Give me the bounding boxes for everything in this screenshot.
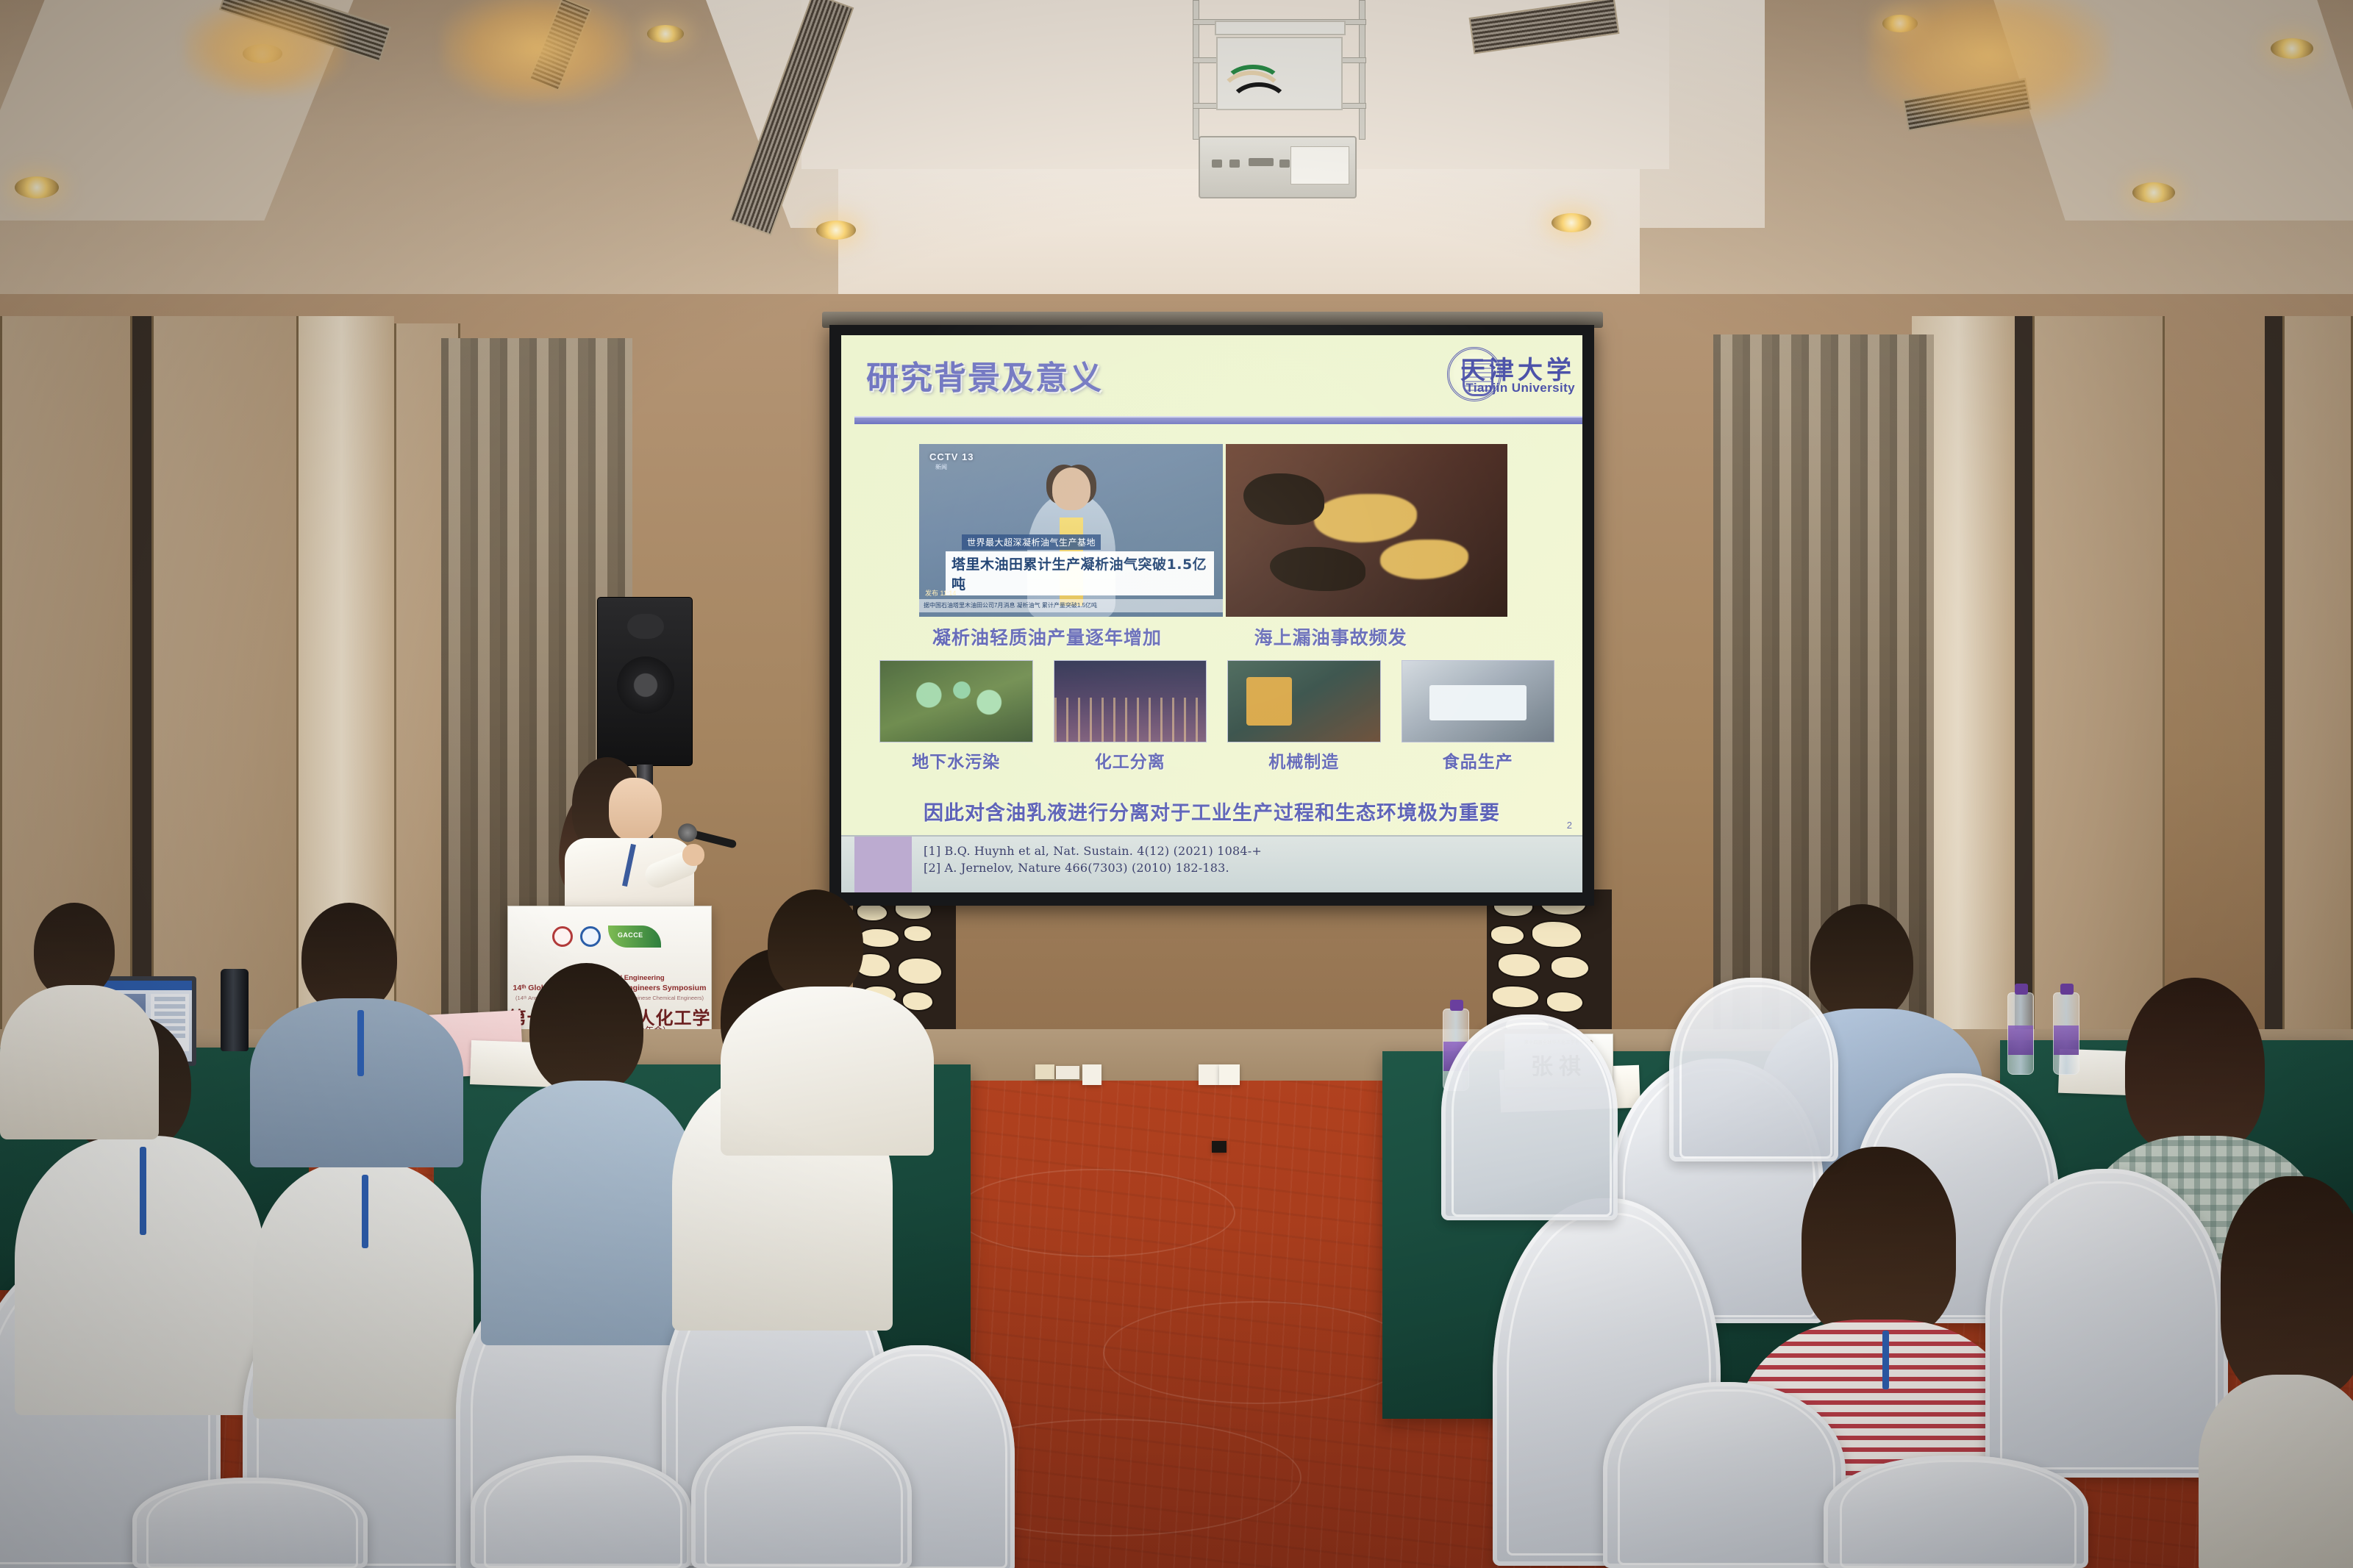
slide-title: 研究背景及意义 bbox=[866, 351, 1103, 398]
carpet-pattern bbox=[1103, 1301, 1412, 1404]
oil-spill-image bbox=[1226, 444, 1507, 617]
audience-chair bbox=[691, 1426, 912, 1568]
audience-lanyard bbox=[362, 1175, 368, 1248]
audience-chair bbox=[132, 1478, 368, 1568]
wall-panel bbox=[2032, 316, 2165, 1051]
projector-mount-plate bbox=[1215, 21, 1346, 35]
audience-shirt bbox=[481, 1081, 701, 1345]
presenter-hand bbox=[682, 844, 704, 866]
projection-screen: 研究背景及意义 天津大学 Tianjin University CCTV 13 … bbox=[829, 325, 1594, 906]
slide-references: [1] B.Q. Huynh et al, Nat. Sustain. 4(12… bbox=[841, 835, 1582, 892]
audience-member bbox=[4, 903, 151, 1123]
reference-color-swatch bbox=[854, 837, 912, 892]
application-label: 食品生产 bbox=[1402, 748, 1555, 773]
audience-head bbox=[1802, 1147, 1956, 1338]
application-image-row: 地下水污染 化工分离 机械制造 食品生产 bbox=[879, 660, 1554, 773]
news-clip-group: CCTV 13 新闻 世界最大超深凝析油气生产基地 塔里木油田累计生产凝析油气突… bbox=[919, 444, 1507, 617]
conference-room-photo: 研究背景及意义 天津大学 Tianjin University CCTV 13 … bbox=[0, 0, 2353, 1568]
ceiling-downlight bbox=[15, 176, 59, 198]
slide-conclusion-text: 因此对含油乳液进行分离对于工业生产过程和生态环境极为重要 bbox=[841, 797, 1582, 826]
pa-loudspeaker bbox=[597, 597, 693, 766]
cove-light-glow bbox=[441, 0, 632, 103]
projector-body bbox=[1199, 136, 1357, 198]
ceiling-downlight bbox=[1552, 213, 1591, 232]
food-production-image bbox=[1402, 660, 1555, 742]
application-cell: 地下水污染 bbox=[879, 660, 1033, 773]
wall-switch-plate[interactable] bbox=[1056, 1066, 1079, 1079]
audience-member bbox=[2206, 1176, 2353, 1568]
news-broadcast-image: CCTV 13 新闻 世界最大超深凝析油气生产基地 塔里木油田累计生产凝析油气突… bbox=[919, 444, 1223, 617]
cove-light-glow bbox=[1868, 0, 2110, 125]
audience-chair bbox=[1669, 978, 1838, 1161]
oil-dark-shape bbox=[1243, 473, 1324, 525]
carpet-pattern bbox=[956, 1169, 1235, 1257]
audience-chair bbox=[1824, 1456, 2088, 1568]
news-captions-row: 凝析油轻质油产量逐年增加 海上漏油事故频发 bbox=[919, 623, 1507, 650]
audience-lanyard bbox=[357, 1010, 364, 1076]
audience-shirt bbox=[2199, 1375, 2353, 1568]
projector-cable-black bbox=[1228, 82, 1290, 131]
audience-head bbox=[2125, 978, 2265, 1154]
wall-divider-slot bbox=[2265, 316, 2282, 1051]
ceiling-downlight bbox=[647, 25, 684, 43]
audience-shirt bbox=[250, 998, 463, 1167]
caption-condensate-production: 凝析油轻质油产量逐年增加 bbox=[919, 623, 1216, 650]
cctv-channel-sublabel: 新闻 bbox=[935, 463, 947, 471]
audience-lanyard bbox=[140, 1147, 146, 1235]
audience-head bbox=[34, 903, 115, 998]
audience-chair bbox=[471, 1456, 691, 1568]
application-label: 地下水污染 bbox=[879, 748, 1033, 773]
audience-head bbox=[301, 903, 397, 1013]
audience-member bbox=[485, 963, 699, 1345]
lectern-logo-row bbox=[552, 926, 661, 948]
gacce-leaf-logo-icon bbox=[608, 926, 661, 948]
news-ticker-text: 据中国石油塔里木油田公司7月消息 凝析油气 累计产量突破1.5亿吨 bbox=[919, 599, 1223, 612]
reference-item: [1] B.Q. Huynh et al, Nat. Sustain. 4(12… bbox=[924, 842, 1582, 859]
ceiling-projector-mount bbox=[1176, 0, 1382, 198]
news-headline-main: 塔里木油田累计生产凝析油气突破1.5亿吨 bbox=[946, 551, 1214, 595]
wall-network-plate[interactable] bbox=[1199, 1064, 1219, 1085]
application-cell: 化工分离 bbox=[1054, 660, 1207, 773]
audience-member bbox=[735, 889, 919, 1139]
ceiling-downlight bbox=[2132, 182, 2175, 203]
audience-member bbox=[265, 903, 449, 1123]
audience-head bbox=[529, 963, 643, 1095]
floor-cable-port bbox=[1212, 1141, 1227, 1153]
audience-shirt bbox=[0, 985, 159, 1139]
cove-light-glow bbox=[184, 0, 346, 96]
wall-panel bbox=[2282, 316, 2353, 1051]
water-bottle bbox=[2053, 992, 2079, 1075]
presenter-face bbox=[609, 778, 662, 841]
audience-chair bbox=[1603, 1382, 1846, 1568]
application-label: 机械制造 bbox=[1227, 748, 1381, 773]
news-timestamp: 发布 11:14 bbox=[925, 588, 956, 598]
blue-seal-logo-icon bbox=[580, 926, 601, 947]
chemical-separation-image bbox=[1054, 660, 1207, 742]
audience-head bbox=[2221, 1176, 2353, 1397]
application-cell: 食品生产 bbox=[1402, 660, 1555, 773]
audience-head bbox=[1810, 904, 1913, 1022]
caption-oil-spill-accidents: 海上漏油事故频发 bbox=[1216, 623, 1507, 650]
groundwater-pollution-image bbox=[879, 660, 1033, 742]
red-seal-logo-icon bbox=[552, 926, 573, 947]
oil-dark-shape bbox=[1270, 547, 1365, 591]
news-headline-small: 世界最大超深凝析油气生产基地 bbox=[962, 534, 1101, 550]
wall-power-socket[interactable] bbox=[1035, 1064, 1054, 1079]
water-bottle bbox=[2007, 992, 2034, 1075]
oil-slick-shape bbox=[1380, 540, 1468, 579]
reference-item: [2] A. Jernelov, Nature 466(7303) (2010)… bbox=[924, 859, 1582, 876]
machinery-manufacturing-image bbox=[1227, 660, 1381, 742]
wall-divider-slot bbox=[2015, 316, 2032, 1051]
university-name-en: Tianjin University bbox=[1465, 381, 1575, 395]
wall-av-plate[interactable] bbox=[1082, 1064, 1101, 1085]
audience-chair bbox=[1441, 1014, 1618, 1220]
application-label: 化工分离 bbox=[1054, 748, 1207, 773]
slide-title-divider bbox=[854, 416, 1582, 424]
ceiling-downlight bbox=[2271, 38, 2313, 59]
wall-power-socket[interactable] bbox=[1219, 1064, 1240, 1085]
ceiling-downlight bbox=[816, 221, 856, 240]
audience-lanyard bbox=[1882, 1331, 1889, 1389]
audience-shirt bbox=[721, 987, 934, 1156]
application-cell: 机械制造 bbox=[1227, 660, 1381, 773]
projector-spec-label bbox=[1290, 146, 1349, 185]
oil-slick-shape bbox=[1314, 494, 1417, 543]
audience-chair bbox=[1985, 1169, 2228, 1478]
presentation-slide: 研究背景及意义 天津大学 Tianjin University CCTV 13 … bbox=[841, 335, 1582, 892]
slide-page-number: 2 bbox=[1567, 820, 1572, 831]
audience-head bbox=[768, 889, 863, 1000]
cctv-channel-logo: CCTV 13 bbox=[929, 451, 974, 462]
